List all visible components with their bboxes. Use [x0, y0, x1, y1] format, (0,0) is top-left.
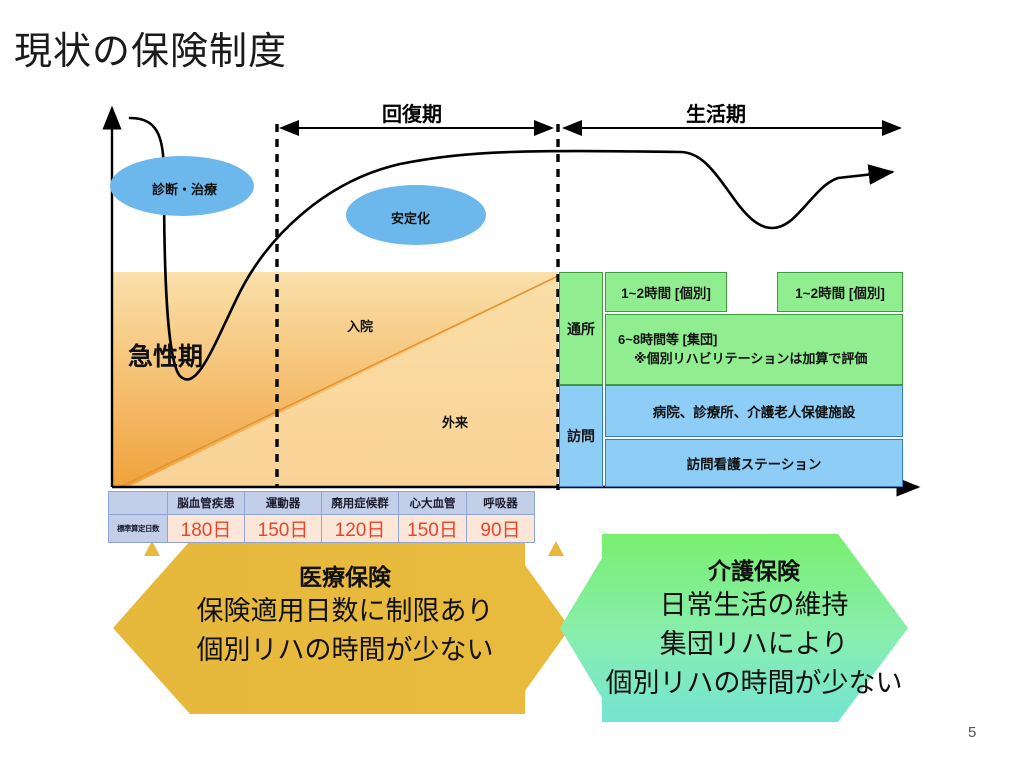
- banner-left-heading: 医療保険: [150, 564, 540, 592]
- service-daycare-group-line1: 6~8時間等 [集団]: [618, 331, 867, 350]
- table-cell-days-4: 90日: [467, 515, 535, 543]
- table-col-header-1: 運動器: [245, 492, 322, 515]
- service-daycare-individual-2: 1~2時間 [個別]: [777, 272, 903, 312]
- table-cell-days-2: 120日: [322, 515, 399, 543]
- phase-label-recovery: 回復期: [382, 98, 442, 127]
- table-cell-days-0: 180日: [168, 515, 245, 543]
- standard-days-table: 脳血管疾患 運動器 廃用症候群 心大血管 呼吸器 標準算定日数 180日 150…: [108, 491, 535, 543]
- service-category-visit: 訪問: [559, 385, 603, 487]
- banner-left-line-2: 個別リハの時間が少ない: [150, 631, 540, 670]
- table-row: 標準算定日数 180日 150日 120日 150日 90日: [109, 515, 535, 543]
- banner-left: 医療保険 保険適用日数に制限あり 個別リハの時間が少ない: [150, 564, 540, 670]
- table-col-header-3: 心大血管: [399, 492, 467, 515]
- service-visit-facilities: 病院、診療所、介護老人保健施設: [605, 385, 903, 437]
- service-daycare-individual-1: 1~2時間 [個別]: [605, 272, 727, 312]
- service-daycare-group: 6~8時間等 [集団] ※個別リハビリテーションは加算で評価: [605, 314, 903, 385]
- banner-right-line-3: 個別リハの時間が少ない: [596, 664, 912, 703]
- table-row-header: 標準算定日数: [109, 515, 168, 543]
- callout-label-stabilization: 安定化: [391, 208, 430, 227]
- zone-label-acute: 急性期: [128, 337, 203, 373]
- table-col-header-0: 脳血管疾患: [168, 492, 245, 515]
- table-header-row: 脳血管疾患 運動器 廃用症候群 心大血管 呼吸器: [109, 492, 535, 515]
- table-connector-right: [548, 541, 564, 556]
- service-daycare-group-note: ※個別リハビリテーションは加算で評価: [618, 350, 867, 369]
- table-cell-days-3: 150日: [399, 515, 467, 543]
- table-corner-cell: [109, 492, 168, 515]
- service-visit-nursing-station: 訪問看護ステーション: [605, 439, 903, 487]
- table-col-header-2: 廃用症候群: [322, 492, 399, 515]
- care-setting-region: [112, 272, 558, 487]
- zone-label-inpatient: 入院: [347, 316, 373, 335]
- service-category-daycare: 通所: [559, 272, 603, 385]
- banner-right-heading: 介護保険: [596, 558, 912, 586]
- table-col-header-4: 呼吸器: [467, 492, 535, 515]
- banner-right: 介護保険 日常生活の維持 集団リハにより 個別リハの時間が少ない: [596, 558, 912, 703]
- phase-label-living: 生活期: [686, 98, 746, 127]
- table-connector-left: [144, 541, 160, 556]
- table-cell-days-1: 150日: [245, 515, 322, 543]
- callout-label-diagnosis: 診断・治療: [152, 179, 217, 198]
- banner-left-line-1: 保険適用日数に制限あり: [150, 592, 540, 631]
- zone-label-outpatient: 外来: [442, 412, 468, 431]
- slide-root: 現状の保険制度 5: [0, 0, 1024, 768]
- banner-right-line-2: 集団リハにより: [596, 625, 912, 664]
- banner-right-line-1: 日常生活の維持: [596, 586, 912, 625]
